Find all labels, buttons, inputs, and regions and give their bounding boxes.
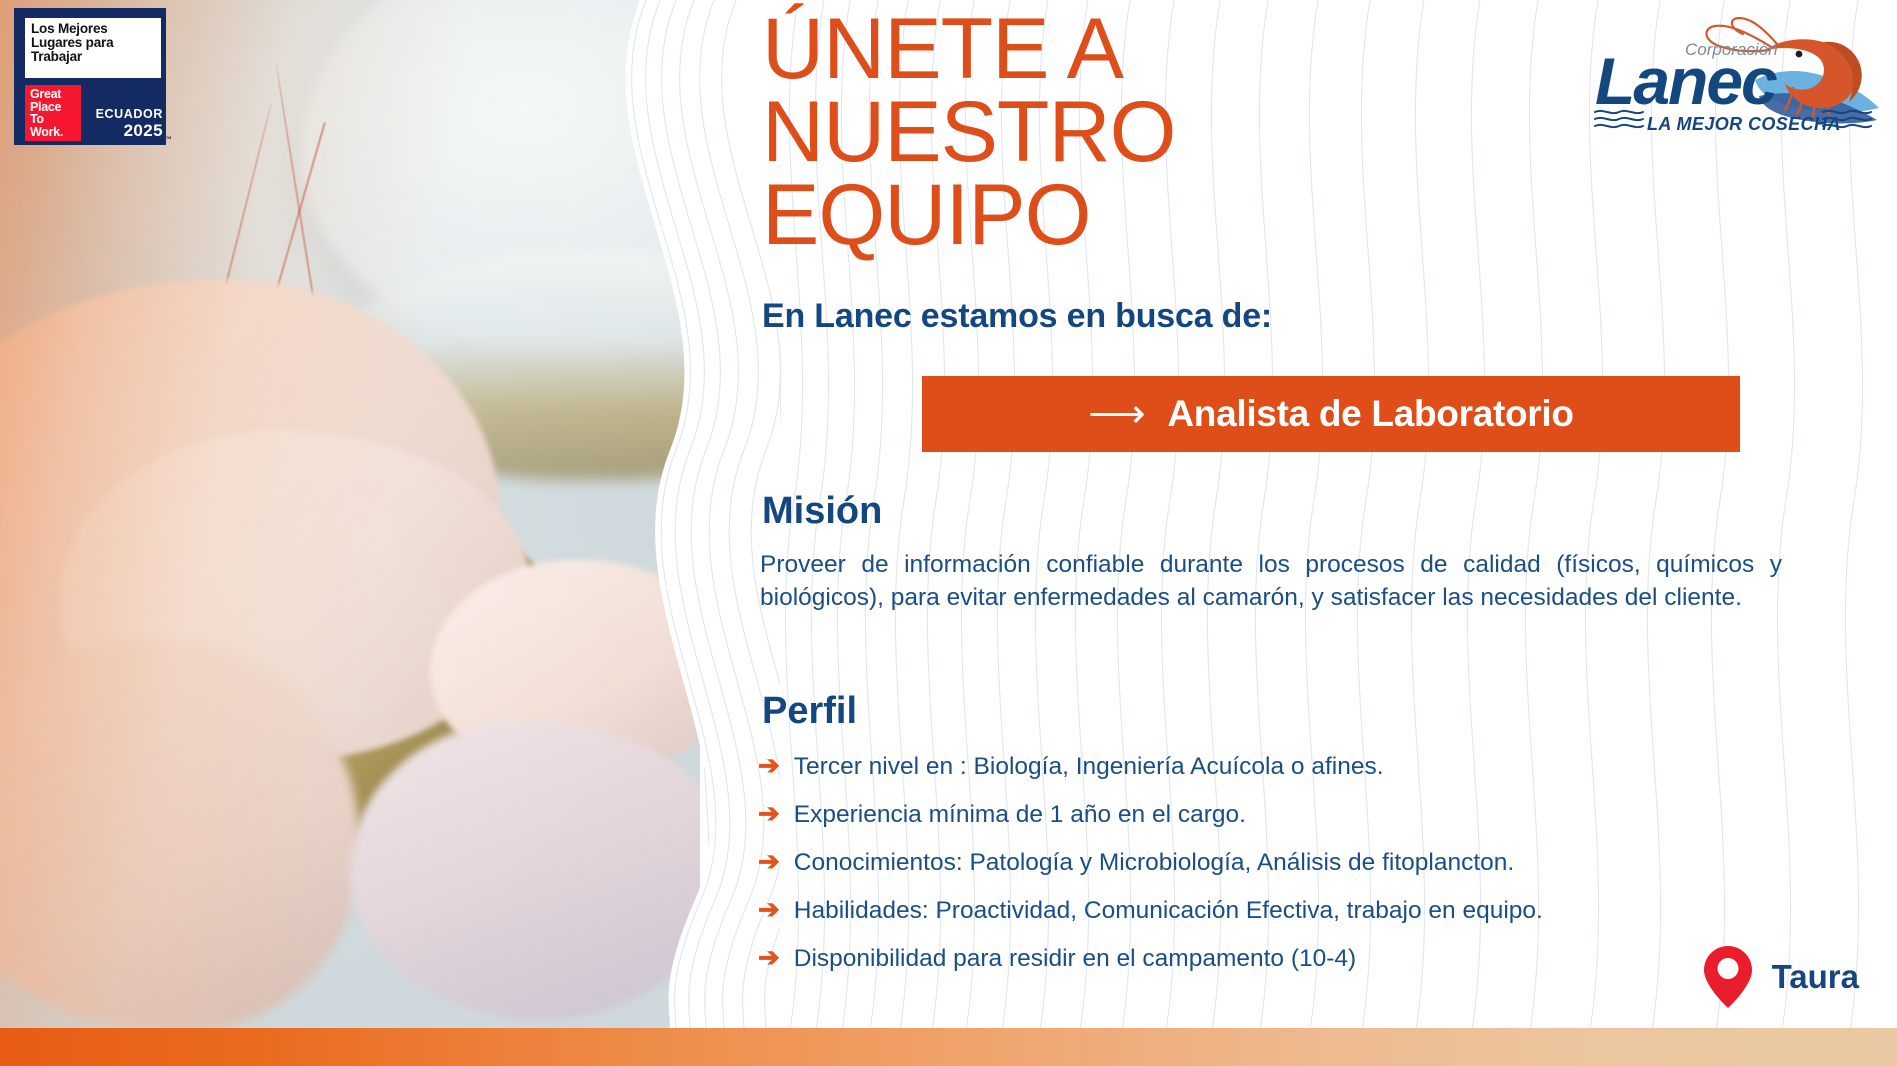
- mision-heading: Misión: [762, 490, 882, 533]
- list-item-label: Tercer nivel en : Biología, Ingeniería A…: [794, 753, 1384, 781]
- job-title-row: ⟶ Analista de Laboratorio: [1088, 393, 1573, 435]
- bottom-gradient-bar: [0, 1028, 1897, 1066]
- arrow-bullet-icon: ➔: [758, 848, 780, 874]
- badge-year: 2025: [87, 122, 163, 140]
- headline-line-2: NUESTRO: [762, 91, 1462, 174]
- list-item-label: Disponibilidad para residir en el campam…: [794, 945, 1356, 973]
- list-item: ➔ Conocimientos: Patología y Microbiolog…: [758, 848, 1798, 877]
- job-title-label: Analista de Laboratorio: [1167, 393, 1573, 435]
- location-block: Taura: [1702, 944, 1859, 1010]
- list-item: ➔ Habilidades: Proactividad, Comunicació…: [758, 896, 1798, 925]
- lanec-logo: Corporación Lanec LA MEJOR COSECHA: [1587, 14, 1887, 138]
- badge-headline-box: Los Mejores Lugares para Trabajar: [25, 18, 161, 78]
- list-item: ➔ Experiencia mínima de 1 año en el carg…: [758, 800, 1798, 829]
- mision-body-text: Proveer de información confiable durante…: [760, 548, 1782, 614]
- badge-headline-text: Los Mejores Lugares para Trabajar: [31, 22, 156, 64]
- arrow-bullet-icon: ➔: [758, 752, 780, 778]
- headline-line-3: EQUIPO: [762, 174, 1462, 257]
- list-item: ➔ Disponibilidad para residir en el camp…: [758, 944, 1798, 973]
- job-title-banner: ⟶ Analista de Laboratorio: [922, 376, 1740, 452]
- arrow-bullet-icon: ➔: [758, 944, 780, 970]
- shrimp-eye: [1796, 51, 1803, 58]
- list-item-label: Conocimientos: Patología y Microbiología…: [794, 849, 1514, 877]
- logo-tagline: LA MEJOR COSECHA: [1647, 114, 1841, 135]
- list-item-label: Experiencia mínima de 1 año en el cargo.: [794, 801, 1246, 829]
- badge-brand-text: Great Place To Work.: [30, 88, 81, 138]
- logo-wordmark: Lanec: [1595, 48, 1776, 114]
- badge-brand-block: Great Place To Work.: [25, 85, 81, 141]
- location-pin-icon: [1702, 944, 1754, 1010]
- badge-country: ECUADOR: [87, 107, 163, 122]
- perfil-heading: Perfil: [762, 690, 857, 733]
- badge-trademark-mark: ™: [164, 135, 172, 144]
- great-place-to-work-badge: Los Mejores Lugares para Trabajar Great …: [14, 8, 166, 145]
- page-title: ÚNETE A NUESTRO EQUIPO: [762, 8, 1462, 257]
- arrow-bullet-icon: ➔: [758, 800, 780, 826]
- subtitle: En Lanec estamos en busca de:: [762, 297, 1272, 336]
- wavy-panel-edge: [520, 0, 780, 1030]
- right-arrow-icon: ⟶: [1088, 394, 1145, 434]
- location-label: Taura: [1772, 958, 1859, 996]
- list-item-label: Habilidades: Proactividad, Comunicación …: [794, 897, 1543, 925]
- perfil-requirements-list: ➔ Tercer nivel en : Biología, Ingeniería…: [758, 752, 1798, 992]
- list-item: ➔ Tercer nivel en : Biología, Ingeniería…: [758, 752, 1798, 781]
- job-posting-poster: Los Mejores Lugares para Trabajar Great …: [0, 0, 1897, 1066]
- arrow-bullet-icon: ➔: [758, 896, 780, 922]
- headline-line-1: ÚNETE A: [762, 8, 1462, 91]
